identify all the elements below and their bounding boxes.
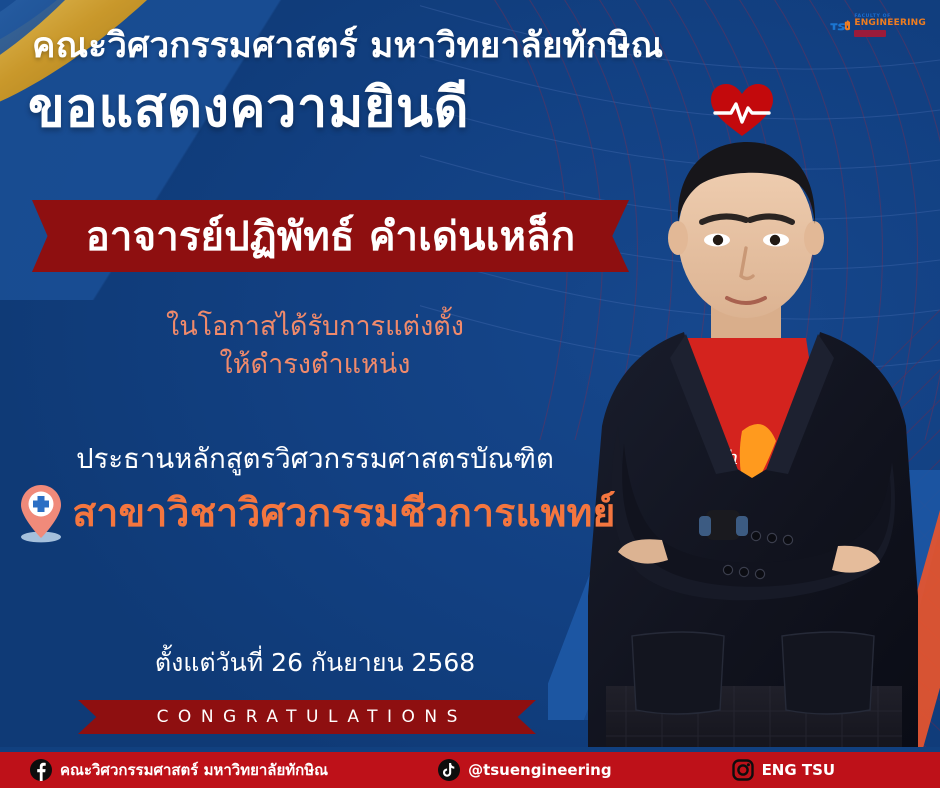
honoree-name: อาจารย์ปฏิพัทธ์ คำเด่นเหล็ก xyxy=(86,204,576,268)
occasion-line-1: ในโอกาสได้รับการแต่งตั้ง xyxy=(0,308,630,346)
instagram-label: ENG TSU xyxy=(762,763,836,778)
header-line-2: ขอแสดงความยินดี xyxy=(28,64,469,150)
medical-location-pin-icon xyxy=(16,482,66,544)
tsu-logo-mark xyxy=(830,11,850,41)
tiktok-label: @tsuengineering xyxy=(468,763,612,778)
effective-date: ตั้งแต่วันที่ 26 กันยายน 2568 xyxy=(0,643,630,683)
congratulations-label: CONGRATULATIONS xyxy=(147,707,467,727)
tiktok-icon xyxy=(438,759,460,781)
occasion-text: ในโอกาสได้รับการแต่งตั้ง ให้ดำรงตำแหน่ง xyxy=(0,308,630,385)
occasion-line-2: ให้ดำรงตำแหน่ง xyxy=(0,346,630,384)
congratulation-poster: th คณะวิศวกรรมศาสตร์ มหาวิ xyxy=(0,0,940,788)
footer-tiktok[interactable]: @tsuengineering xyxy=(438,759,612,781)
tsu-faculty-main: ENGINEERING xyxy=(854,19,926,28)
instagram-icon xyxy=(732,759,754,781)
congratulations-ribbon: CONGRATULATIONS xyxy=(78,700,536,734)
tsu-logo-bar xyxy=(854,30,886,37)
footer-instagram[interactable]: ENG TSU xyxy=(732,759,836,781)
position-department: สาขาวิชาวิศวกรรมชีวการแพทย์ xyxy=(72,482,615,544)
tsu-logo: FACULTY OF ENGINEERING xyxy=(830,8,926,44)
facebook-label: คณะวิศวกรรมศาสตร์ มหาวิทยาลัยทักษิณ xyxy=(60,763,328,778)
department-row: สาขาวิชาวิศวกรรมชีวการแพทย์ xyxy=(0,482,632,544)
facebook-icon xyxy=(30,759,52,781)
footer-bar: คณะวิศวกรรมศาสตร์ มหาวิทยาลัยทักษิณ @tsu… xyxy=(0,752,940,788)
footer-facebook[interactable]: คณะวิศวกรรมศาสตร์ มหาวิทยาลัยทักษิณ xyxy=(30,759,328,781)
tsu-logo-text: FACULTY OF ENGINEERING xyxy=(854,15,926,38)
honoree-name-banner: อาจารย์ปฏิพัทธ์ คำเด่นเหล็ก xyxy=(32,200,629,272)
heart-ecg-icon xyxy=(709,82,775,138)
position-role: ประธานหลักสูตรวิศวกรรมศาสตรบัณฑิต xyxy=(0,437,630,481)
